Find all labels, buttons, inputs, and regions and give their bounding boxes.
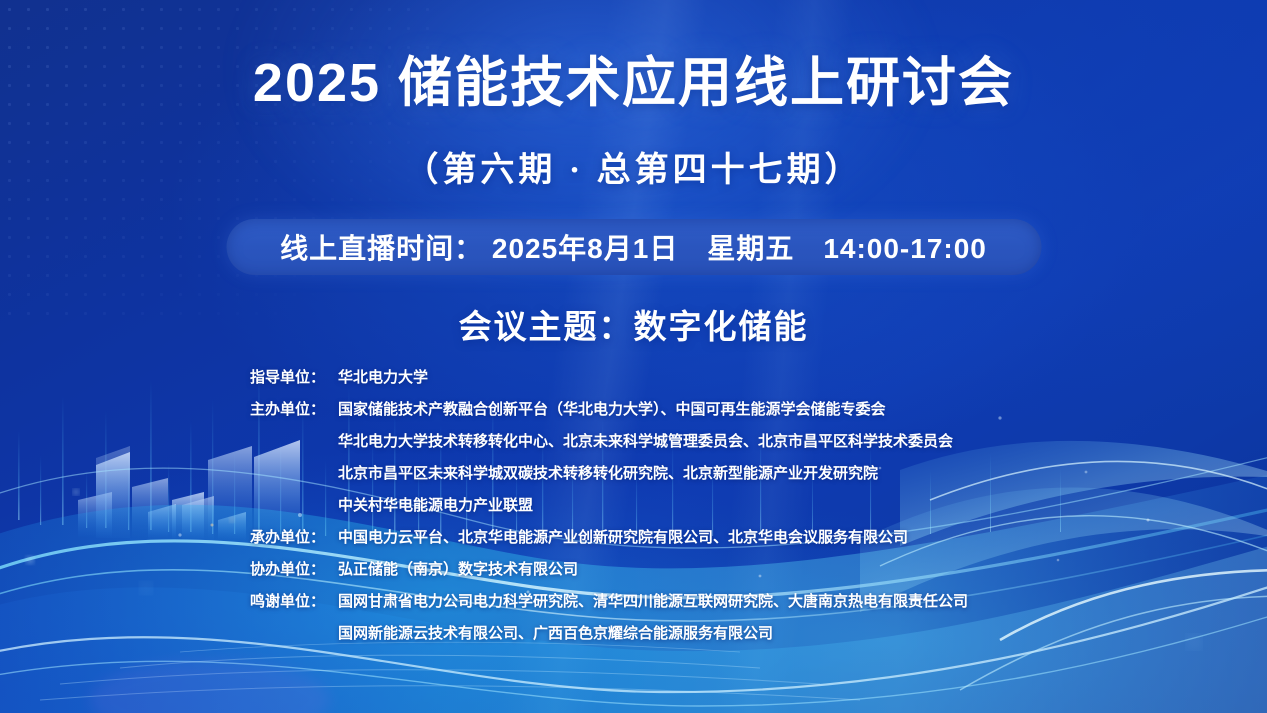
credit-row: 华北电力大学技术转移转化中心、北京未来科学城管理委员会、北京市昌平区科学技术委员… (250, 434, 1040, 466)
page-title: 2025 储能技术应用线上研讨会 (0, 52, 1267, 116)
credit-row: 鸣谢单位：国网甘肃省电力公司电力科学研究院、清华四川能源互联网研究院、大唐南京热… (250, 594, 1040, 626)
subtitle: （第六期 · 总第四十七期） (0, 142, 1267, 191)
credit-text: 国网新能源云技术有限公司、广西百色京耀综合能源服务有限公司 (338, 626, 773, 641)
live-time-banner: 线上直播时间： 2025年8月1日 星期五 14:00-17:00 (226, 219, 1041, 275)
conference-poster: 2025 储能技术应用线上研讨会 （第六期 · 总第四十七期） 线上直播时间： … (0, 0, 1267, 713)
credit-label: 指导单位： (250, 370, 338, 385)
live-time-text: 线上直播时间： 2025年8月1日 星期五 14:00-17:00 (280, 227, 987, 267)
credit-text: 中关村华电能源电力产业联盟 (338, 498, 533, 513)
credit-text: 华北电力大学 (338, 370, 428, 385)
credit-label: 主办单位： (250, 402, 338, 417)
credit-label: 协办单位： (250, 562, 338, 577)
credit-text: 北京市昌平区未来科学城双碳技术转移转化研究院、北京新型能源产业开发研究院 (338, 466, 878, 481)
credit-row: 承办单位：中国电力云平台、北京华电能源产业创新研究院有限公司、北京华电会议服务有… (250, 530, 1040, 562)
credit-text: 国网甘肃省电力公司电力科学研究院、清华四川能源互联网研究院、大唐南京热电有限责任… (338, 594, 968, 609)
credit-row: 国网新能源云技术有限公司、广西百色京耀综合能源服务有限公司 (250, 626, 1040, 658)
credit-text: 国家储能技术产教融合创新平台（华北电力大学）、中国可再生能源学会储能专委会 (338, 402, 886, 417)
credit-row: 中关村华电能源电力产业联盟 (250, 498, 1040, 530)
credit-text: 中国电力云平台、北京华电能源产业创新研究院有限公司、北京华电会议服务有限公司 (338, 530, 908, 545)
credit-row: 协办单位：弘正储能（南京）数字技术有限公司 (250, 562, 1040, 594)
credits-block: 指导单位：华北电力大学主办单位：国家储能技术产教融合创新平台（华北电力大学）、中… (250, 370, 1040, 658)
credit-row: 指导单位：华北电力大学 (250, 370, 1040, 402)
credit-text: 弘正储能（南京）数字技术有限公司 (338, 562, 578, 577)
credit-row: 北京市昌平区未来科学城双碳技术转移转化研究院、北京新型能源产业开发研究院 (250, 466, 1040, 498)
credit-label: 承办单位： (250, 530, 338, 545)
credit-text: 华北电力大学技术转移转化中心、北京未来科学城管理委员会、北京市昌平区科学技术委员… (338, 434, 953, 449)
credit-label: 鸣谢单位： (250, 594, 338, 609)
credit-row: 主办单位：国家储能技术产教融合创新平台（华北电力大学）、中国可再生能源学会储能专… (250, 402, 1040, 434)
conference-theme: 会议主题：数字化储能 (0, 300, 1267, 348)
